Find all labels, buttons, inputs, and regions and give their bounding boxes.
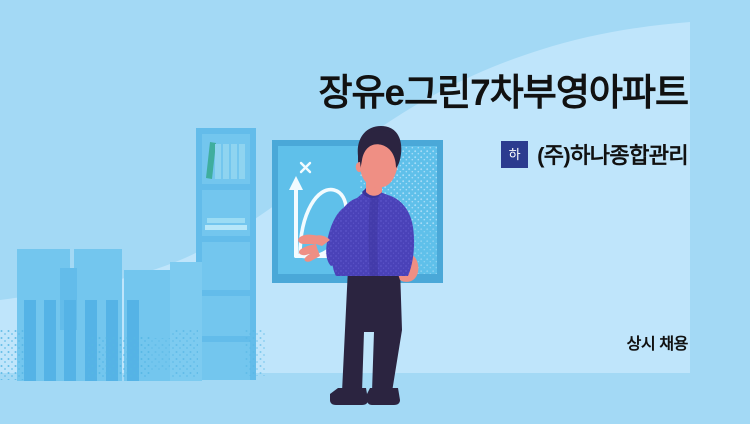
- job-posting-banner: 장유e그린7차부영아파트 하 (주)하나종합관리 상시 채용: [0, 0, 750, 424]
- company-name[interactable]: (주)하나종합관리: [537, 138, 688, 170]
- company-row[interactable]: 하 (주)하나종합관리: [501, 138, 688, 170]
- status-badge: 상시 채용: [627, 330, 688, 354]
- text-layer: 장유e그린7차부영아파트 하 (주)하나종합관리 상시 채용: [0, 0, 750, 424]
- company-badge-icon: 하: [501, 141, 528, 168]
- page-title: 장유e그린7차부영아파트: [318, 72, 688, 115]
